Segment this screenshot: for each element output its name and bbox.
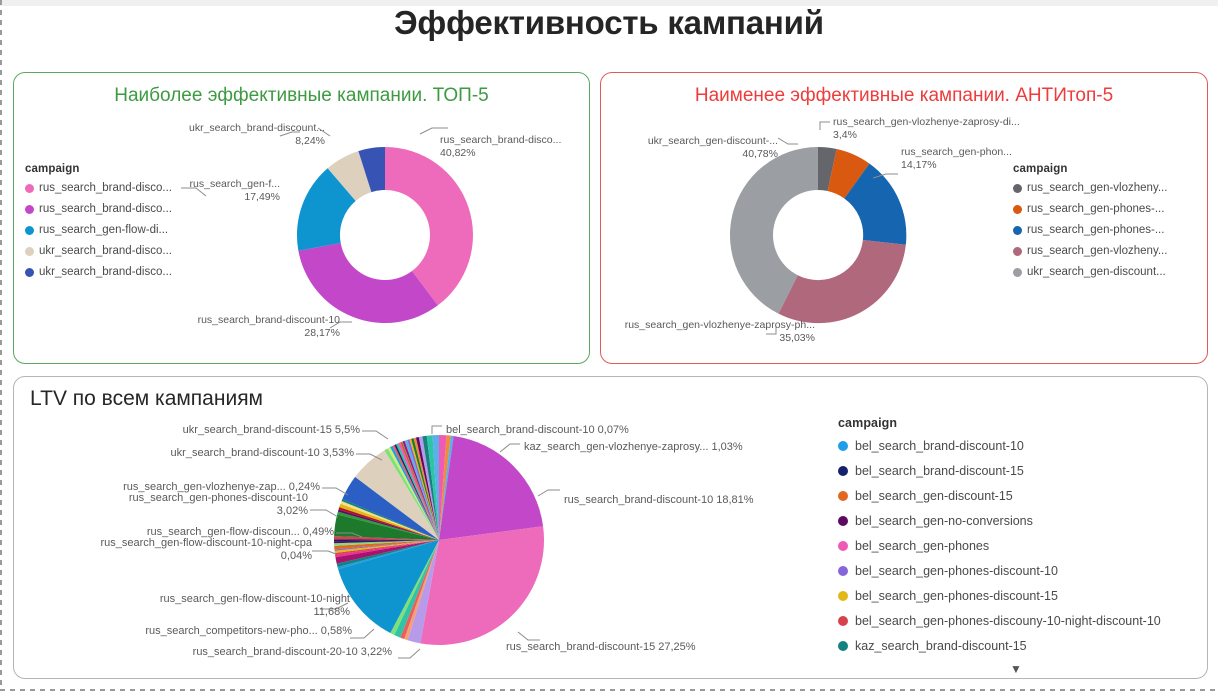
legend-item-label: bel_search_brand-discount-10 <box>855 439 1024 453</box>
callout-ltv-right-2: kaz_search_gen-vlozhenye-zaprosy... 1,03… <box>524 441 784 454</box>
callout-anti5-dgray: rus_search_gen-vlozhenye-zaprosy-di... 3… <box>833 116 1033 142</box>
legend-item[interactable]: bel_search_gen-no-conversions <box>838 514 1161 528</box>
callout-ltv-left-4: rus_search_gen-phones-discount-10 3,02% <box>60 492 308 518</box>
legend-item[interactable]: bel_search_gen-phones-discouny-10-night-… <box>838 614 1161 628</box>
page-title: Эффективность кампаний <box>0 4 1218 42</box>
legend-header: campaign <box>838 416 1161 430</box>
leader-lines-ltv-right <box>420 420 760 670</box>
legend-color-dot <box>838 491 848 501</box>
legend-item[interactable]: bel_search_gen-phones-discount-10 <box>838 564 1161 578</box>
legend-color-dot <box>838 641 848 651</box>
legend-item[interactable]: kaz_search_brand-discount-15 <box>838 639 1161 653</box>
legend-color-dot <box>838 591 848 601</box>
legend-item[interactable]: bel_search_brand-discount-10 <box>838 439 1161 453</box>
legend-color-dot <box>838 466 848 476</box>
legend-item-label: kaz_search_brand-discount-15 <box>855 639 1027 653</box>
legend-item[interactable]: bel_search_gen-discount-15 <box>838 489 1161 503</box>
callout-ltv-right-3: rus_search_brand-discount-10 18,81% <box>564 494 814 507</box>
legend-item-label: bel_search_gen-phones-discouny-10-night-… <box>855 614 1161 628</box>
callout-top5-beige: ukr_search_brand-discount... 8,24% <box>100 122 325 148</box>
callout-top5-blue: rus_search_gen-f... 17,49% <box>100 178 280 204</box>
callout-top5-purple: rus_search_brand-discount-10 28,17% <box>140 314 340 340</box>
legend-item-label: bel_search_gen-phones <box>855 539 989 553</box>
legend-item[interactable]: bel_search_gen-phones-discount-15 <box>838 589 1161 603</box>
legend-color-dot <box>838 616 848 626</box>
callout-anti5-gray: ukr_search_gen-discount-... 40,78% <box>600 135 778 161</box>
legend-color-dot <box>838 441 848 451</box>
legend-item-label: bel_search_gen-no-conversions <box>855 514 1033 528</box>
legend-color-dot <box>838 541 848 551</box>
callout-ltv-left-1: ukr_search_brand-discount-15 5,5% <box>140 424 360 437</box>
legend-item[interactable]: bel_search_gen-phones <box>838 539 1161 553</box>
legend-item-label: bel_search_gen-phones-discount-15 <box>855 589 1058 603</box>
chevron-down-icon[interactable]: ▼ <box>1010 662 1022 676</box>
legend-item-label: bel_search_gen-discount-15 <box>855 489 1013 503</box>
panel-ltv-title: LTV по всем кампаниям <box>30 387 263 411</box>
callout-ltv-left-6: rus_search_gen-flow-discount-10-night-cp… <box>60 537 312 563</box>
callout-ltv-left-8: rus_search_competitors-new-pho... 0,58% <box>100 625 352 638</box>
legend-item-label: bel_search_gen-phones-discount-10 <box>855 564 1058 578</box>
legend-item[interactable]: bel_search_brand-discount-15 <box>838 464 1161 478</box>
callout-ltv-left-9: rus_search_brand-discount-20-10 3,22% <box>140 646 392 659</box>
callout-anti5-blue: rus_search_gen-phon... 14,17% <box>901 146 1031 172</box>
callout-top5-pink: rus_search_brand-disco... 40,82% <box>440 134 600 160</box>
dashboard-page: Эффективность кампаний Наиболее эффектив… <box>0 0 1218 691</box>
callout-ltv-left-7: rus_search_gen-flow-discount-10-night 11… <box>100 593 350 619</box>
callout-ltv-left-2: ukr_search_brand-discount-10 3,53% <box>140 447 354 460</box>
callout-anti5-rose: rus_search_gen-vlozhenye-zaprosy-ph... 3… <box>585 319 815 345</box>
legend-color-dot <box>838 516 848 526</box>
callout-ltv-right-1: bel_search_brand-discount-10 0,07% <box>446 424 686 437</box>
legend-item-label: bel_search_brand-discount-15 <box>855 464 1024 478</box>
legend-ltv: campaign bel_search_brand-discount-10 be… <box>838 416 1161 664</box>
callout-ltv-right-4: rus_search_brand-discount-15 27,25% <box>506 641 756 654</box>
legend-color-dot <box>838 566 848 576</box>
